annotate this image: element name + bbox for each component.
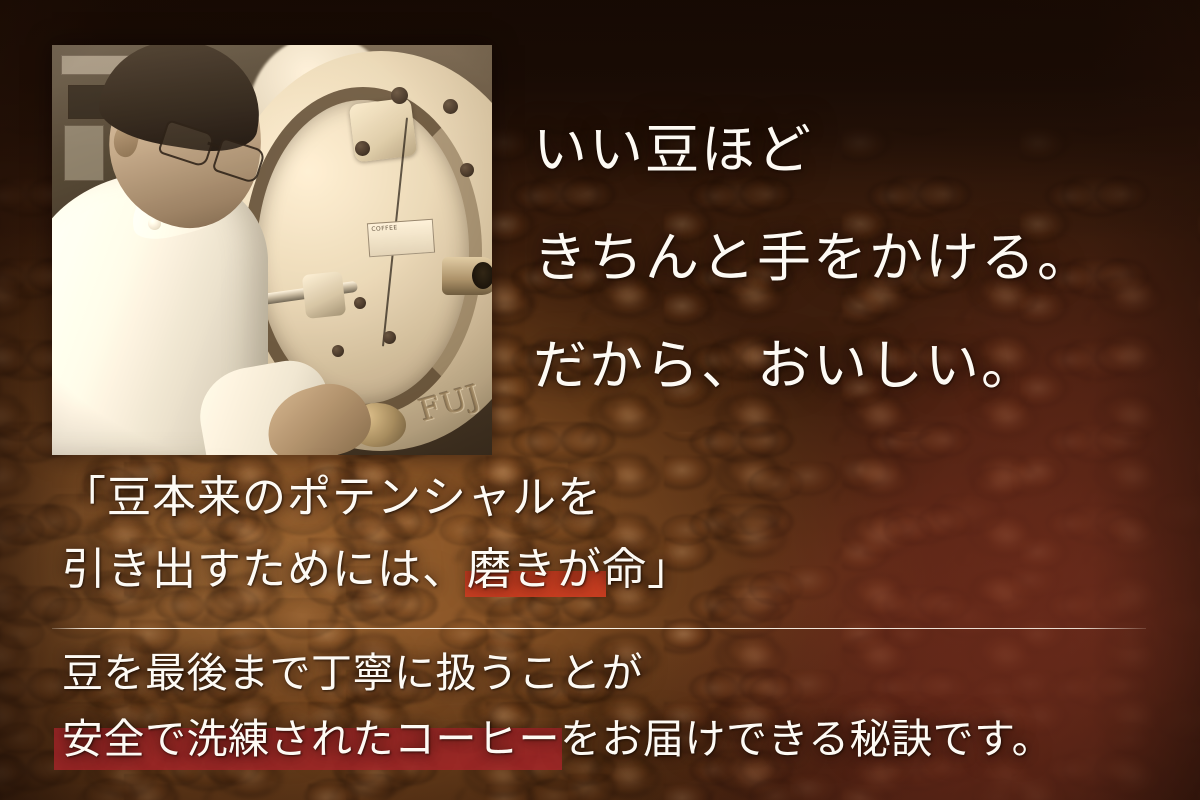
footer-highlight-crimson: 安全で洗練されたコーヒー [62,714,560,764]
quote-line-1: 「豆本来のポテンシャルを [62,472,1152,524]
headline-line-3: だから、おいしい。 [533,312,1193,420]
footer-line-1: 豆を最後まで丁寧に扱うことが [62,648,1172,698]
headline-block: いい豆ほど きちんと手をかける。 だから、おいしい。 [533,96,1193,420]
quote-highlight-orange: 磨きが [467,544,602,596]
quote-line-1-text: 豆本来のポテンシャルを [107,472,602,523]
quote-block: 「豆本来のポテンシャルを 引き出すためには、磨きが命」 [62,472,1152,596]
footer-line-2-after: をお届けできる秘訣です。 [560,715,1053,763]
headline-line-1: いい豆ほど [533,96,1193,204]
banner-content: いい豆ほど きちんと手をかける。 だから、おいしい。 「豆本来のポテンシャルを … [0,0,1200,800]
headline-line-2: きちんと手をかける。 [533,204,1193,312]
quote-close-bracket: 」 [647,544,692,595]
horizontal-divider [52,628,1146,629]
footer-line-2: 安全で洗練されたコーヒーをお届けできる秘訣です。 [62,714,1172,764]
quote-line-2-before: 引き出すためには、 [62,544,467,595]
quote-line-2-after: 命 [602,544,647,595]
quote-open-bracket: 「 [62,472,107,523]
quote-line-2: 引き出すためには、磨きが命」 [62,544,1152,596]
hero-banner: COFFEE FUJ いい豆ほど きちんと手をかける。 [0,0,1200,800]
footer-block: 豆を最後まで丁寧に扱うことが 安全で洗練されたコーヒーをお届けできる秘訣です。 [62,648,1172,764]
